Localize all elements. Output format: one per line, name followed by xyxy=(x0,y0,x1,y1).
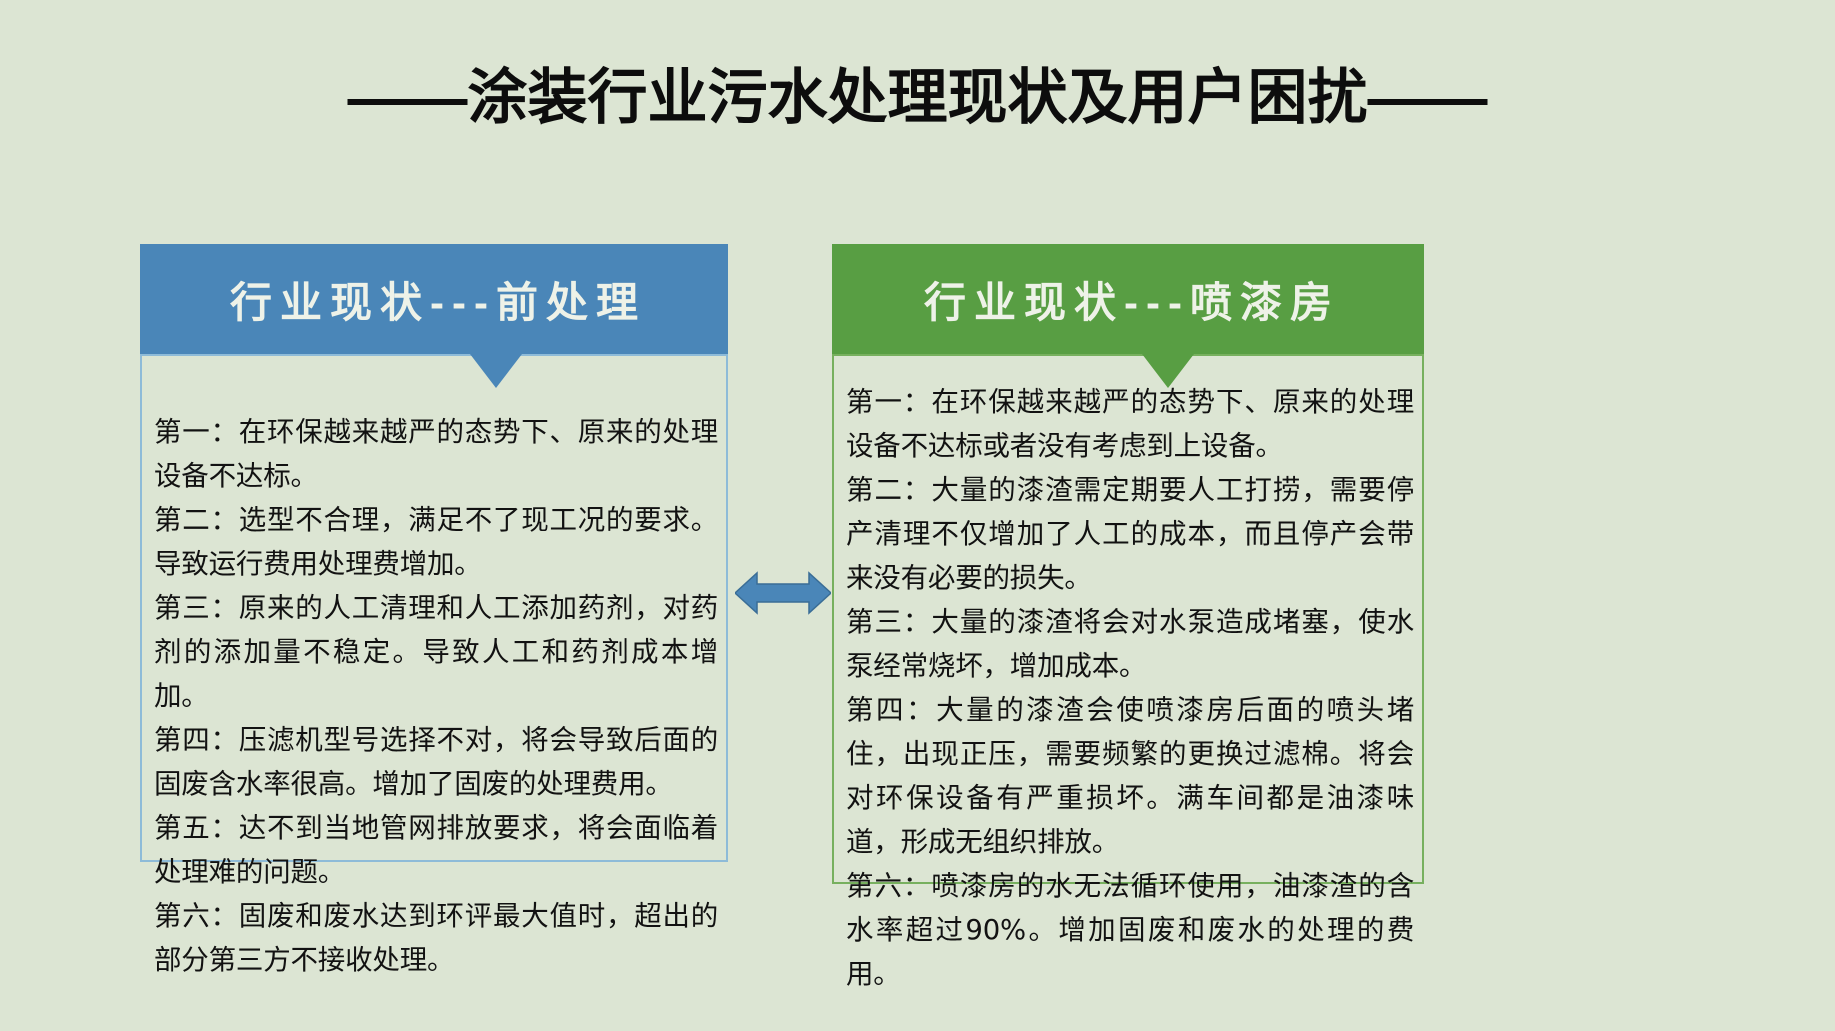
panel-header-paint-booth: 行业现状---喷漆房 xyxy=(832,244,1424,354)
list-item: 第六：喷漆房的水无法循环使用，油漆渣的含水率超过90%。增加固废和废水的处理的费… xyxy=(846,864,1414,996)
list-item: 第五：达不到当地管网排放要求，将会面临着处理难的问题。 xyxy=(154,806,718,894)
page-title: ——涂装行业污水处理现状及用户困扰—— xyxy=(0,66,1835,129)
list-item: 第四：压滤机型号选择不对，将会导致后面的固废含水率很高。增加了固废的处理费用。 xyxy=(154,718,718,806)
speech-tail-icon xyxy=(1142,354,1194,388)
panel-body-paint-booth: 第一：在环保越来越严的态势下、原来的处理设备不达标或者没有考虑到上设备。 第二：… xyxy=(832,354,1424,884)
panel-header-title-paint-booth: 行业现状---喷漆房 xyxy=(916,269,1340,330)
list-item: 第六：固废和废水达到环评最大值时，超出的部分第三方不接收处理。 xyxy=(154,894,718,982)
panel-body-pretreatment: 第一：在环保越来越严的态势下、原来的处理设备不达标。 第二：选型不合理，满足不了… xyxy=(140,354,728,862)
list-item: 第一：在环保越来越严的态势下、原来的处理设备不达标或者没有考虑到上设备。 xyxy=(846,380,1414,468)
list-item: 第三：大量的漆渣将会对水泵造成堵塞，使水泵经常烧坏，增加成本。 xyxy=(846,600,1414,688)
list-item: 第一：在环保越来越严的态势下、原来的处理设备不达标。 xyxy=(154,410,718,498)
panel-pretreatment: 行业现状---前处理 第一：在环保越来越严的态势下、原来的处理设备不达标。 第二… xyxy=(140,244,728,862)
list-item: 第三：原来的人工清理和人工添加药剂，对药剂的添加量不稳定。导致人工和药剂成本增加… xyxy=(154,586,718,718)
list-item: 第四：大量的漆渣会使喷漆房后面的喷头堵住，出现正压，需要频繁的更换过滤棉。将会对… xyxy=(846,688,1414,864)
speech-tail-icon xyxy=(470,354,522,388)
list-item: 第二：选型不合理，满足不了现工况的要求。导致运行费用处理费增加。 xyxy=(154,498,718,586)
list-item: 第二：大量的漆渣需定期要人工打捞，需要停产清理不仅增加了人工的成本，而且停产会带… xyxy=(846,468,1414,600)
panel-header-title-pretreatment: 行业现状---前处理 xyxy=(222,269,646,330)
panel-paint-booth: 行业现状---喷漆房 第一：在环保越来越严的态势下、原来的处理设备不达标或者没有… xyxy=(832,244,1424,884)
double-arrow-horizontal-icon xyxy=(735,565,831,621)
panel-header-pretreatment: 行业现状---前处理 xyxy=(140,244,728,354)
